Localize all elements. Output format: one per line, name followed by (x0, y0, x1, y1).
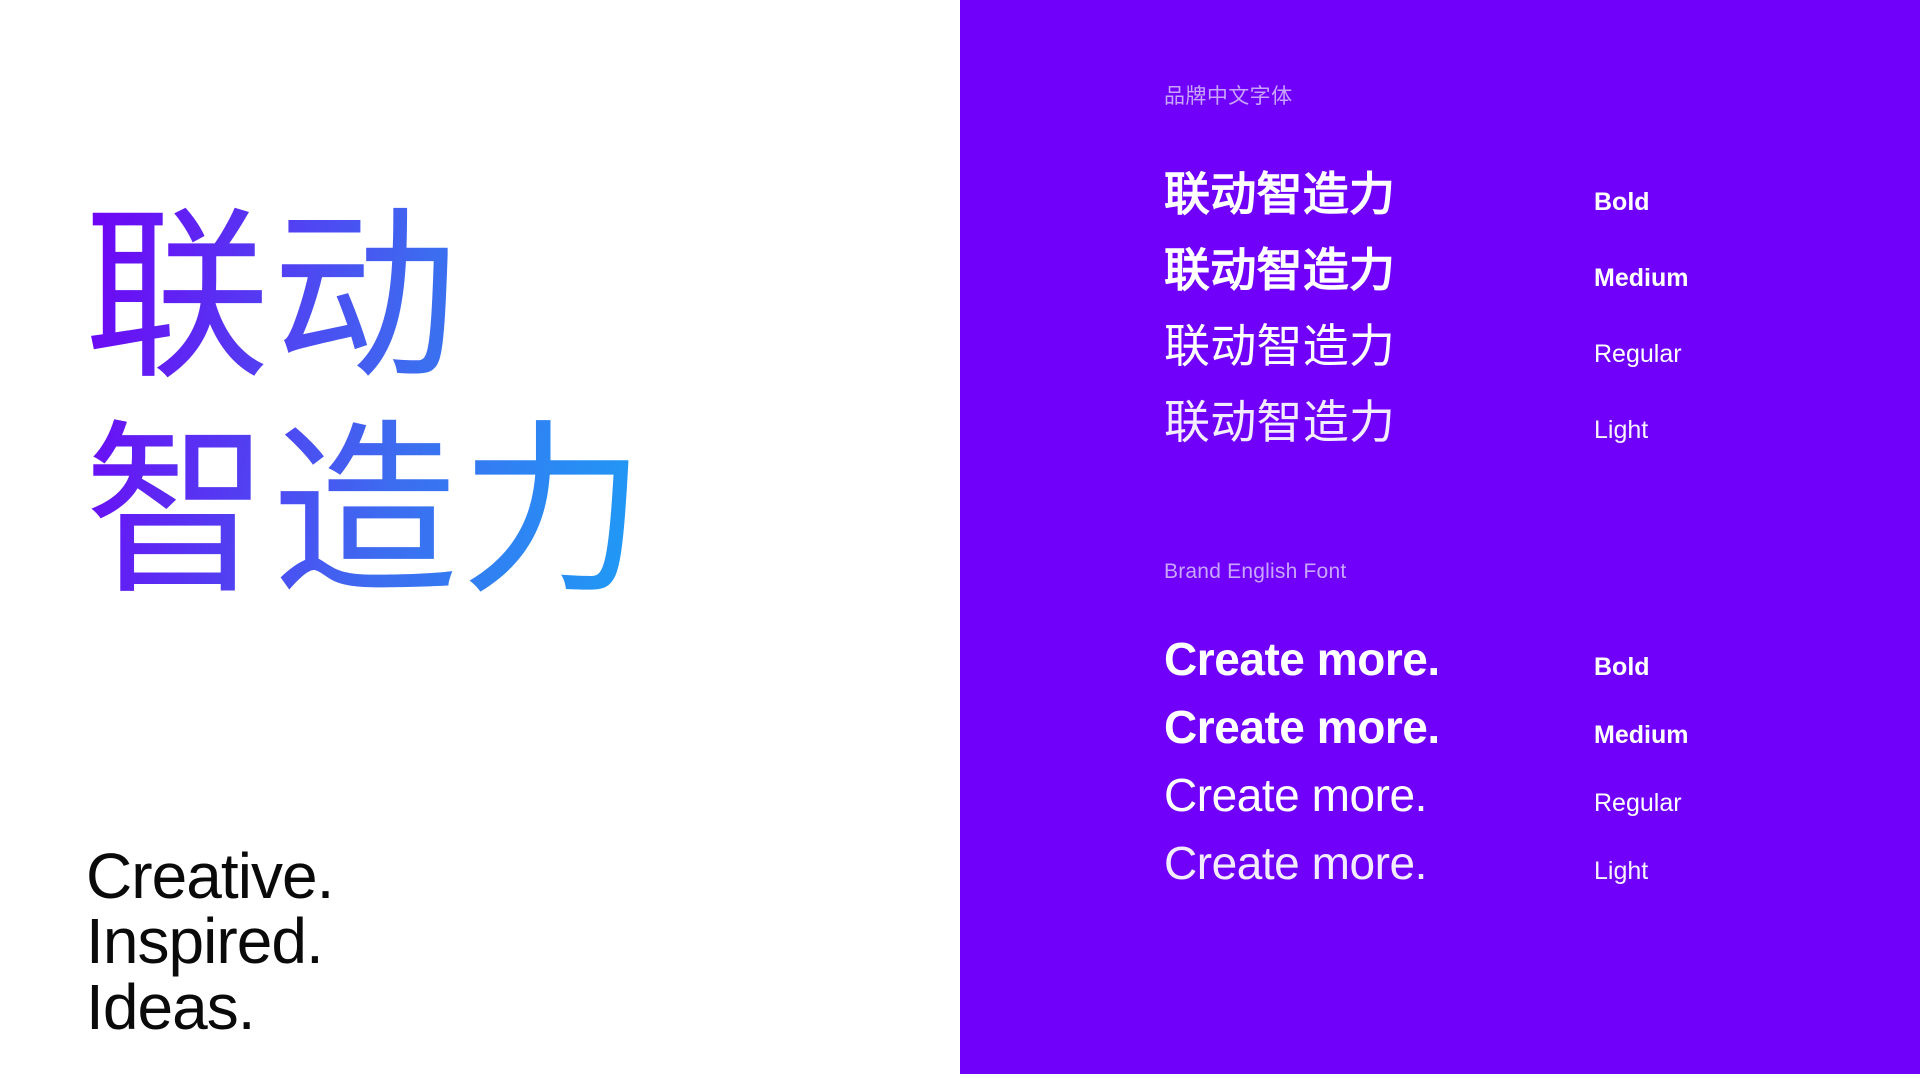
font-sample-chinese-medium: 联动智造力 (1164, 234, 1554, 300)
english-font-rows: Create more. Bold Create more. Medium Cr… (1164, 632, 1880, 904)
weight-label-light: Light (1594, 857, 1648, 886)
font-sample-chinese-regular: 联动智造力 (1164, 310, 1554, 376)
font-weight-row: Create more. Regular (1164, 768, 1880, 836)
weight-label-bold: Bold (1594, 653, 1650, 682)
font-weight-row: 联动智造力 Regular (1164, 310, 1880, 386)
font-weight-row: 联动智造力 Light (1164, 386, 1880, 462)
weight-label-bold: Bold (1594, 188, 1650, 217)
font-weight-row: 联动智造力 Bold (1164, 158, 1880, 234)
chinese-font-group: 品牌中文字体 联动智造力 Bold 联动智造力 Medium 联动智造力 Reg… (1164, 80, 1880, 462)
font-sample-english-medium: Create more. (1164, 700, 1554, 754)
left-panel: 联动 智造力 Creative. Inspired. Ideas. (0, 0, 960, 1080)
font-sample-chinese-light: 联动智造力 (1164, 386, 1554, 452)
weight-label-light: Light (1594, 416, 1648, 445)
typography-specimen-board: 联动 智造力 Creative. Inspired. Ideas. 品牌中文字体… (0, 0, 1920, 1080)
weight-label-regular: Regular (1594, 789, 1682, 818)
weight-label-medium: Medium (1594, 721, 1688, 750)
font-weight-row: Create more. Light (1164, 836, 1880, 904)
right-panel: 品牌中文字体 联动智造力 Bold 联动智造力 Medium 联动智造力 Reg… (960, 0, 1920, 1080)
font-weight-row: 联动智造力 Medium (1164, 234, 1880, 310)
font-sample-english-bold: Create more. (1164, 632, 1554, 686)
chinese-font-rows: 联动智造力 Bold 联动智造力 Medium 联动智造力 Regular 联动… (1164, 158, 1880, 462)
chinese-font-group-label: 品牌中文字体 (1164, 80, 1880, 110)
font-sample-english-regular: Create more. (1164, 768, 1554, 822)
weight-label-regular: Regular (1594, 340, 1682, 369)
brand-headline-chinese: 联动 智造力 (84, 189, 904, 621)
brand-tagline-english: Creative. Inspired. Ideas. (86, 844, 333, 1040)
font-sample-chinese-bold: 联动智造力 (1164, 158, 1554, 224)
font-weight-row: Create more. Medium (1164, 700, 1880, 768)
weight-label-medium: Medium (1594, 264, 1688, 293)
english-font-group-label: Brand English Font (1164, 560, 1880, 584)
font-sample-english-light: Create more. (1164, 836, 1554, 890)
english-font-group: Brand English Font Create more. Bold Cre… (1164, 560, 1880, 904)
font-weight-row: Create more. Bold (1164, 632, 1880, 700)
